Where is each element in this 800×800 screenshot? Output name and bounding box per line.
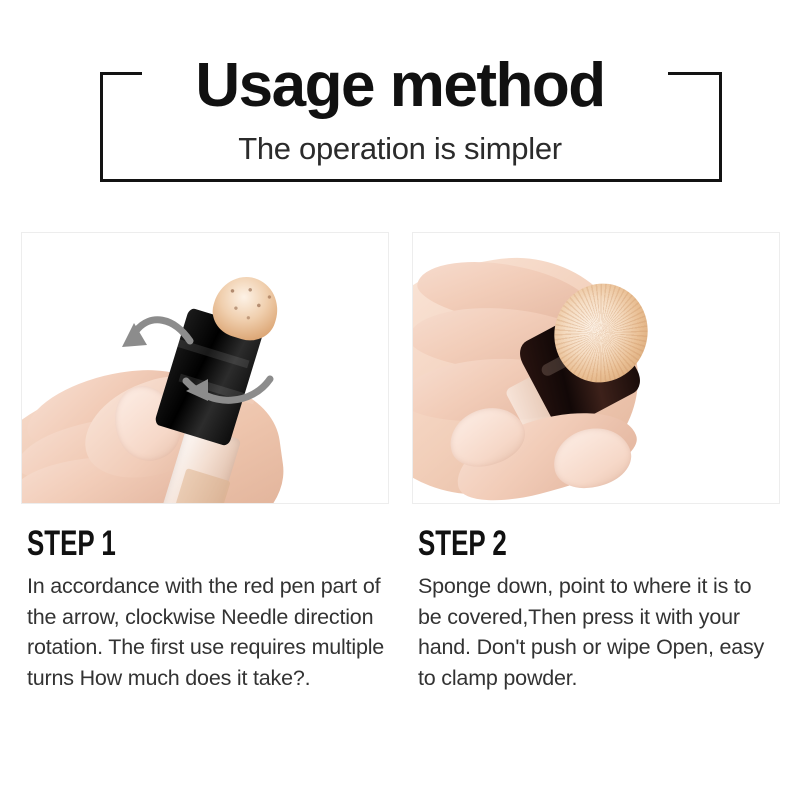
step-1-photo [21, 232, 389, 504]
step-1-heading: STEP 1 [27, 526, 295, 561]
steps-container: STEP 1 In accordance with the red pen pa… [0, 0, 800, 800]
step-card-1: STEP 1 In accordance with the red pen pa… [21, 232, 389, 693]
step-2-heading: STEP 2 [418, 526, 686, 561]
step-1-body: In accordance with the red pen part of t… [27, 571, 389, 693]
rotation-arrows-group [22, 233, 389, 504]
step-2-photo [412, 232, 780, 504]
rotation-arrow-upper-arc [136, 320, 190, 341]
step-1-photo-scene [22, 233, 388, 503]
step-2-body: Sponge down, point to where it is to be … [418, 571, 780, 693]
step-card-2: STEP 2 Sponge down, point to where it is… [412, 232, 780, 693]
step-2-photo-scene [413, 233, 779, 503]
